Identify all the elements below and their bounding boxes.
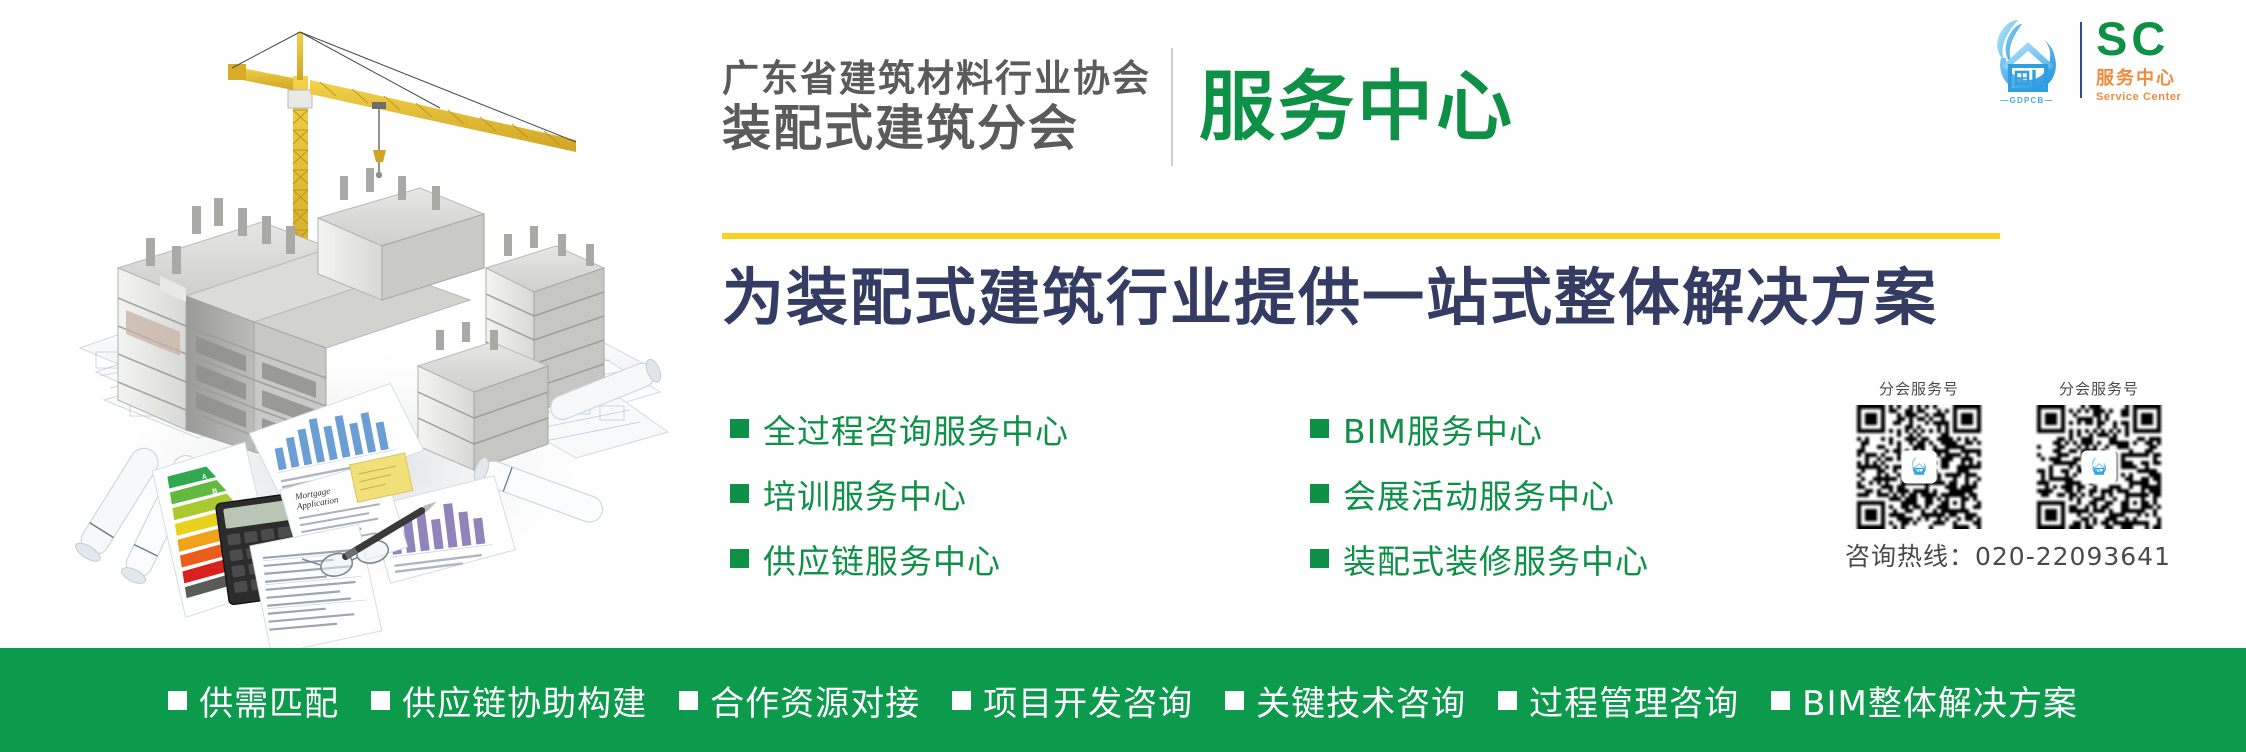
association-name-block: 广东省建筑材料行业协会 装配式建筑分会 bbox=[722, 48, 1151, 166]
qr-code-icon[interactable] bbox=[2025, 405, 2173, 529]
bottom-services-bar: 供需匹配 供应链协助构建 合作资源对接 项目开发咨询 关键技术咨询 过程管理咨询 bbox=[0, 648, 2246, 752]
service-item-label: BIM服务中心 bbox=[1343, 405, 1543, 453]
service-item-label: 会展活动服务中心 bbox=[1343, 470, 1615, 518]
list-item[interactable]: 会展活动服务中心 bbox=[1310, 467, 1770, 520]
house-flame-logo-icon bbox=[2083, 452, 2115, 482]
square-bullet-icon bbox=[168, 691, 187, 710]
qr-contact-section: 分会服务号 分会服务号 bbox=[1845, 378, 2205, 573]
qr-code-icon[interactable] bbox=[1845, 405, 1993, 529]
list-item[interactable]: 全过程咨询服务中心 bbox=[730, 402, 1310, 455]
bottom-item-label: 关键技术咨询 bbox=[1256, 676, 1466, 725]
square-bullet-icon bbox=[371, 691, 390, 710]
service-list-column-2: BIM服务中心 会展活动服务中心 装配式装修服务中心 bbox=[1310, 402, 1770, 597]
house-flame-logo-icon: —GDPCB— bbox=[1988, 14, 2066, 106]
square-bullet-icon bbox=[730, 484, 749, 503]
brand-logo[interactable]: —GDPCB— SC 服务中心 Service Center bbox=[1988, 14, 2181, 106]
list-item[interactable]: 关键技术咨询 bbox=[1225, 676, 1466, 725]
bottom-item-label: BIM整体解决方案 bbox=[1802, 676, 2078, 725]
association-name-line1: 广东省建筑材料行业协会 bbox=[722, 57, 1151, 101]
list-item[interactable]: 供应链协助构建 bbox=[371, 676, 647, 725]
bottom-item-label: 供应链协助构建 bbox=[402, 676, 647, 725]
list-item[interactable]: BIM服务中心 bbox=[1310, 402, 1770, 455]
square-bullet-icon bbox=[730, 549, 749, 568]
svg-text:B: B bbox=[212, 488, 218, 496]
service-item-label: 装配式装修服务中心 bbox=[1343, 535, 1649, 583]
bottom-items-row: 供需匹配 供应链协助构建 合作资源对接 项目开发咨询 关键技术咨询 过程管理咨询 bbox=[168, 676, 2078, 725]
concrete-building-rear-block-icon bbox=[318, 168, 484, 300]
square-bullet-icon bbox=[1225, 691, 1244, 710]
square-bullet-icon bbox=[1771, 691, 1790, 710]
list-item[interactable]: 装配式装修服务中心 bbox=[1310, 532, 1770, 585]
logo-vertical-divider bbox=[2080, 22, 2082, 98]
square-bullet-icon bbox=[1310, 484, 1329, 503]
service-center-banner: AB CD EF GH bbox=[0, 0, 2246, 752]
header: 广东省建筑材料行业协会 装配式建筑分会 服务中心 bbox=[722, 42, 1515, 172]
square-bullet-icon bbox=[952, 691, 971, 710]
list-item[interactable]: 过程管理咨询 bbox=[1498, 676, 1739, 725]
logo-chinese-text: 服务中心 bbox=[2096, 64, 2181, 90]
qr-code-block-1: 分会服务号 bbox=[1845, 378, 1993, 529]
bottom-item-label: 供需匹配 bbox=[199, 676, 339, 725]
service-center-lists: 全过程咨询服务中心 培训服务中心 供应链服务中心 BIM服务中心 会展活动服务中… bbox=[730, 402, 1770, 597]
service-list-column-1: 全过程咨询服务中心 培训服务中心 供应链服务中心 bbox=[730, 402, 1310, 597]
list-item[interactable]: 项目开发咨询 bbox=[952, 676, 1193, 725]
square-bullet-icon bbox=[679, 691, 698, 710]
qr-code-pair: 分会服务号 分会服务号 bbox=[1845, 378, 2205, 529]
square-bullet-icon bbox=[1310, 419, 1329, 438]
logo-sc-text: SC bbox=[2096, 17, 2181, 62]
list-item[interactable]: 供需匹配 bbox=[168, 676, 339, 725]
hotline-text: 咨询热线：020-22093641 bbox=[1845, 537, 2205, 573]
service-item-label: 供应链服务中心 bbox=[763, 535, 1001, 583]
list-item[interactable]: 供应链服务中心 bbox=[730, 532, 1310, 585]
tagline: 为装配式建筑行业提供一站式整体解决方案 bbox=[722, 262, 1938, 333]
logo-english-text: Service Center bbox=[2096, 91, 2181, 103]
bottom-item-label: 合作资源对接 bbox=[710, 676, 920, 725]
service-item-label: 全过程咨询服务中心 bbox=[763, 405, 1069, 453]
bottom-item-label: 项目开发咨询 bbox=[983, 676, 1193, 725]
association-branch-name: 装配式建筑分会 bbox=[722, 102, 1151, 157]
square-bullet-icon bbox=[1310, 549, 1329, 568]
qr-caption: 分会服务号 bbox=[1845, 378, 1993, 399]
house-flame-logo-icon bbox=[1903, 452, 1935, 482]
list-item[interactable]: 培训服务中心 bbox=[730, 467, 1310, 520]
list-item[interactable]: BIM整体解决方案 bbox=[1771, 676, 2078, 725]
construction-site-3d-illustration: AB CD EF GH bbox=[0, 0, 700, 648]
service-item-label: 培训服务中心 bbox=[763, 470, 967, 518]
logo-mark-caption: —GDPCB— bbox=[1988, 96, 2066, 105]
page-title: 服务中心 bbox=[1199, 69, 1515, 145]
qr-caption: 分会服务号 bbox=[2025, 378, 2173, 399]
header-vertical-divider bbox=[1171, 48, 1173, 166]
square-bullet-icon bbox=[1498, 691, 1517, 710]
qr-code-block-2: 分会服务号 bbox=[2025, 378, 2173, 529]
svg-text:A: A bbox=[201, 474, 207, 482]
list-item[interactable]: 合作资源对接 bbox=[679, 676, 920, 725]
square-bullet-icon bbox=[730, 419, 749, 438]
logo-text-block: SC 服务中心 Service Center bbox=[2096, 17, 2181, 104]
yellow-divider-rule bbox=[722, 233, 2000, 239]
bottom-item-label: 过程管理咨询 bbox=[1529, 676, 1739, 725]
